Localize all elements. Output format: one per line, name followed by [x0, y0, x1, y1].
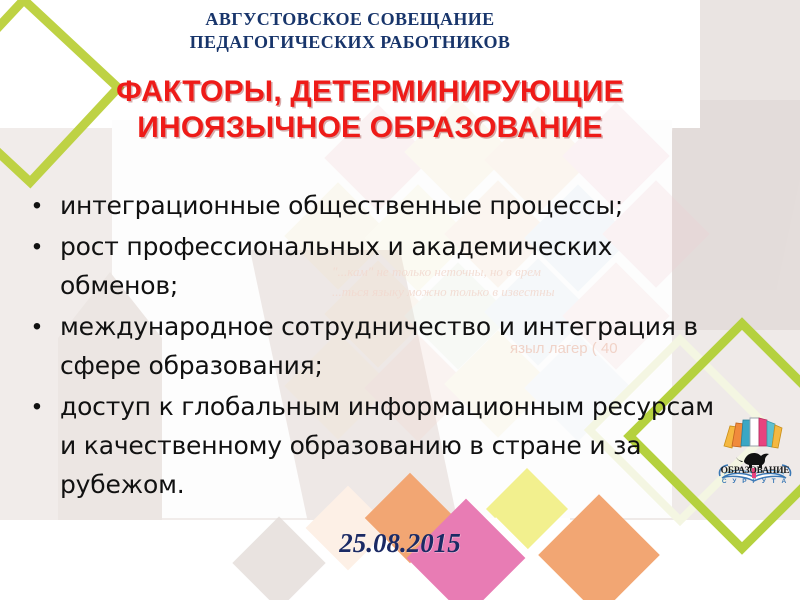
list-item-label: рост профессиональных и академических об…: [60, 227, 714, 305]
presentation-slide: "...кам" не только неточны, но в врем ..…: [0, 0, 800, 600]
organization-logo: ОБРАЗОВАНИЕ С У Р Г У Т А: [714, 404, 796, 496]
list-item: • интеграционные общественные процессы;: [14, 186, 714, 225]
bullet-marker-icon: •: [14, 186, 60, 225]
slide-date: 25.08.2015: [0, 528, 800, 559]
title-line-1: ФАКТОРЫ, ДЕТЕРМИНИРУЮЩИЕ: [0, 74, 740, 110]
logo-caption-main: ОБРАЗОВАНИЕ: [714, 466, 796, 476]
kicker-line-1: АВГУСТОВСКОЕ СОВЕЩАНИЕ: [0, 8, 700, 31]
bullet-marker-icon: •: [14, 387, 60, 426]
list-item-label: интеграционные общественные процессы;: [60, 186, 714, 225]
slide-kicker: АВГУСТОВСКОЕ СОВЕЩАНИЕ ПЕДАГОГИЧЕСКИХ РА…: [0, 8, 700, 54]
bullet-marker-icon: •: [14, 227, 60, 266]
logo-caption-sub: С У Р Г У Т А: [714, 478, 796, 485]
list-item: • международное сотрудничество и интегра…: [14, 307, 714, 385]
list-item: • доступ к глобальным информационным рес…: [14, 387, 714, 504]
slide-title: ФАКТОРЫ, ДЕТЕРМИНИРУЮЩИЕ ИНОЯЗЫЧНОЕ ОБРА…: [0, 74, 740, 146]
list-item: • рост профессиональных и академических …: [14, 227, 714, 305]
list-item-label: доступ к глобальным информационным ресур…: [60, 387, 714, 504]
kicker-line-2: ПЕДАГОГИЧЕСКИХ РАБОТНИКОВ: [0, 31, 700, 54]
bullet-list: • интеграционные общественные процессы; …: [14, 186, 714, 506]
title-line-2: ИНОЯЗЫЧНОЕ ОБРАЗОВАНИЕ: [0, 110, 740, 146]
list-item-label: международное сотрудничество и интеграци…: [60, 307, 714, 385]
bullet-marker-icon: •: [14, 307, 60, 346]
